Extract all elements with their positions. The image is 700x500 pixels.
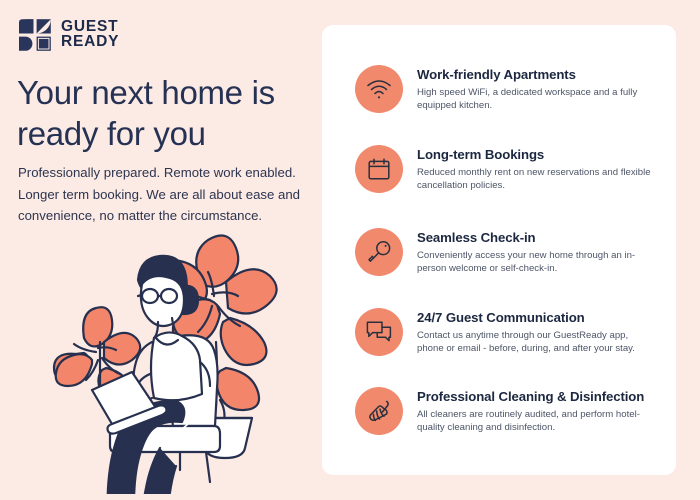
woman-with-laptop-in-armchair-with-plants-illustration — [30, 222, 322, 494]
key-icon — [367, 240, 392, 265]
feature-title: Work-friendly Apartments — [417, 66, 655, 83]
feature-text: Work-friendly Apartments High speed WiFi… — [403, 65, 655, 112]
feature-title: Professional Cleaning & Disinfection — [417, 388, 655, 405]
feature-item-work-friendly-apartments[interactable]: Work-friendly Apartments High speed WiFi… — [355, 65, 655, 113]
broom-icon — [367, 399, 392, 424]
feature-icon-badge — [355, 65, 403, 113]
feature-description: Contact us anytime through our GuestRead… — [417, 329, 655, 355]
feature-text: Professional Cleaning & Disinfection All… — [403, 387, 655, 434]
chat-bubbles-icon — [366, 320, 392, 344]
feature-description: Conveniently access your new home throug… — [417, 249, 655, 275]
feature-icon-badge — [355, 387, 403, 435]
page-title: Your next home is ready for you — [17, 72, 317, 154]
feature-description: High speed WiFi, a dedicated workspace a… — [417, 86, 655, 112]
guestready-grid-logo-icon — [18, 18, 52, 52]
brand-line-2: READY — [61, 35, 119, 50]
brand-logo[interactable]: GUEST READY — [18, 18, 119, 52]
feature-description: All cleaners are routinely audited, and … — [417, 408, 655, 434]
feature-title: Seamless Check-in — [417, 229, 655, 246]
brand-wordmark: GUEST READY — [61, 20, 119, 50]
wifi-icon — [366, 78, 392, 100]
hero-subtitle: Professionally prepared. Remote work ena… — [18, 162, 300, 227]
feature-description: Reduced monthly rent on new reservations… — [417, 166, 655, 192]
feature-text: Long-term Bookings Reduced monthly rent … — [403, 145, 655, 192]
calendar-icon — [367, 157, 391, 181]
features-panel: Work-friendly Apartments High speed WiFi… — [322, 25, 676, 475]
feature-icon-badge — [355, 145, 403, 193]
feature-item-guest-communication[interactable]: 24/7 Guest Communication Contact us anyt… — [355, 308, 655, 356]
feature-icon-badge — [355, 308, 403, 356]
feature-text: Seamless Check-in Conveniently access yo… — [403, 228, 655, 275]
feature-icon-badge — [355, 228, 403, 276]
feature-item-long-term-bookings[interactable]: Long-term Bookings Reduced monthly rent … — [355, 145, 655, 193]
hero-column: GUEST READY Your next home is ready for … — [0, 0, 322, 500]
feature-title: Long-term Bookings — [417, 146, 655, 163]
feature-text: 24/7 Guest Communication Contact us anyt… — [403, 308, 655, 355]
feature-title: 24/7 Guest Communication — [417, 309, 655, 326]
feature-item-professional-cleaning[interactable]: Professional Cleaning & Disinfection All… — [355, 387, 655, 435]
feature-item-seamless-check-in[interactable]: Seamless Check-in Conveniently access yo… — [355, 228, 655, 276]
